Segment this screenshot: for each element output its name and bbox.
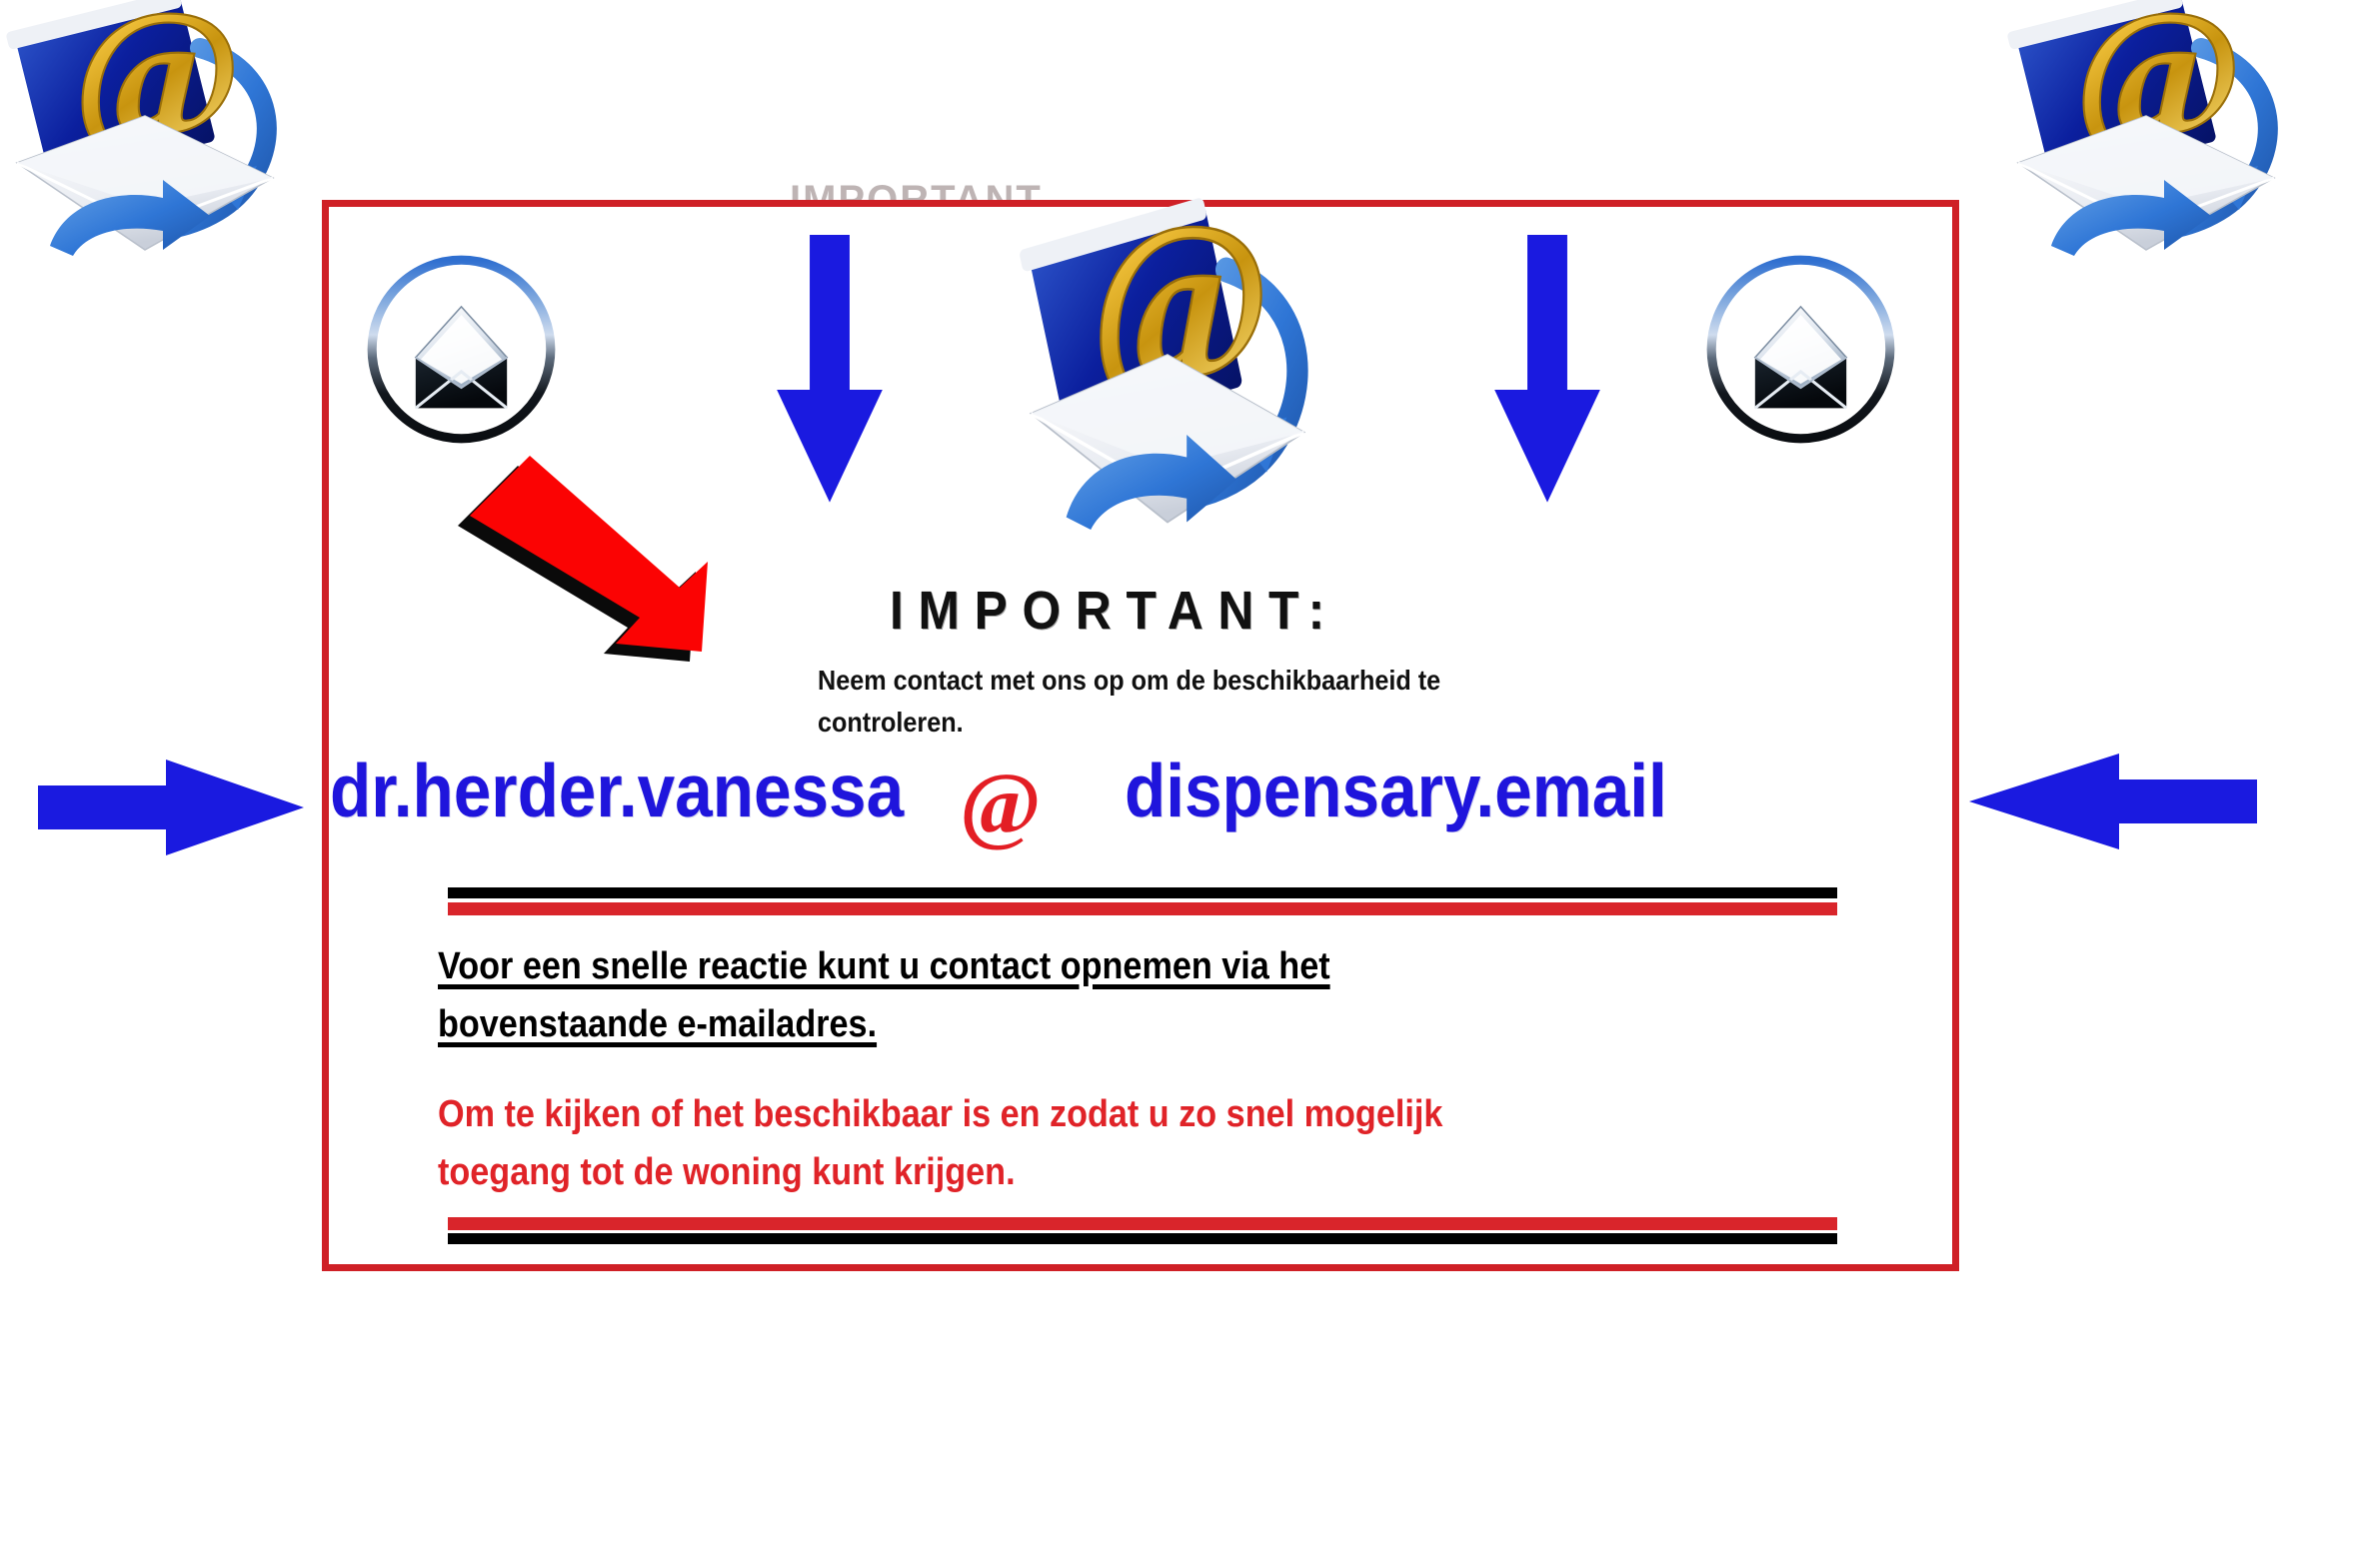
divider-bottom-red [448, 1217, 1837, 1230]
email-at-envelope-graphic: @ [1991, 0, 2301, 288]
important-subtext: Neem contact met ons op om de beschikbaa… [818, 660, 1537, 744]
black-line-2: bovenstaande e-mailadres. [438, 995, 1330, 1053]
email-at-symbol: @ [960, 760, 1042, 851]
blue-down-arrow-right [1487, 235, 1607, 505]
red-diagonal-arrow [440, 438, 740, 688]
blue-down-arrow-left [770, 235, 890, 505]
email-address-row: dr.herder.vanessa @ dispensary.email [330, 748, 1959, 857]
blue-right-arrow [38, 758, 306, 857]
red-line-2: toegang tot de woning kunt krijgen. [438, 1143, 1442, 1201]
chrome-circle-envelope-icon [360, 248, 563, 451]
divider-top-black [448, 887, 1837, 898]
black-line-1: Voor een snelle reactie kunt u contact o… [438, 937, 1330, 995]
email-local-part[interactable]: dr.herder.vanessa [330, 748, 904, 833]
email-at-envelope-graphic: @ [0, 0, 300, 288]
divider-bottom-black [448, 1233, 1837, 1244]
red-instruction-paragraph: Om te kijken of het beschikbaar is en zo… [438, 1085, 1442, 1201]
chrome-circle-envelope-icon [1699, 248, 1902, 451]
red-line-1: Om te kijken of het beschikbaar is en zo… [438, 1085, 1442, 1143]
important-heading: IMPORTANT: [890, 580, 1339, 642]
blue-left-arrow [1967, 752, 2257, 851]
black-instruction-paragraph: Voor een snelle reactie kunt u contact o… [438, 937, 1330, 1053]
email-at-envelope-graphic: @ [1008, 195, 1327, 570]
divider-top-red [448, 902, 1837, 915]
email-domain-part[interactable]: dispensary.email [1125, 748, 1667, 833]
